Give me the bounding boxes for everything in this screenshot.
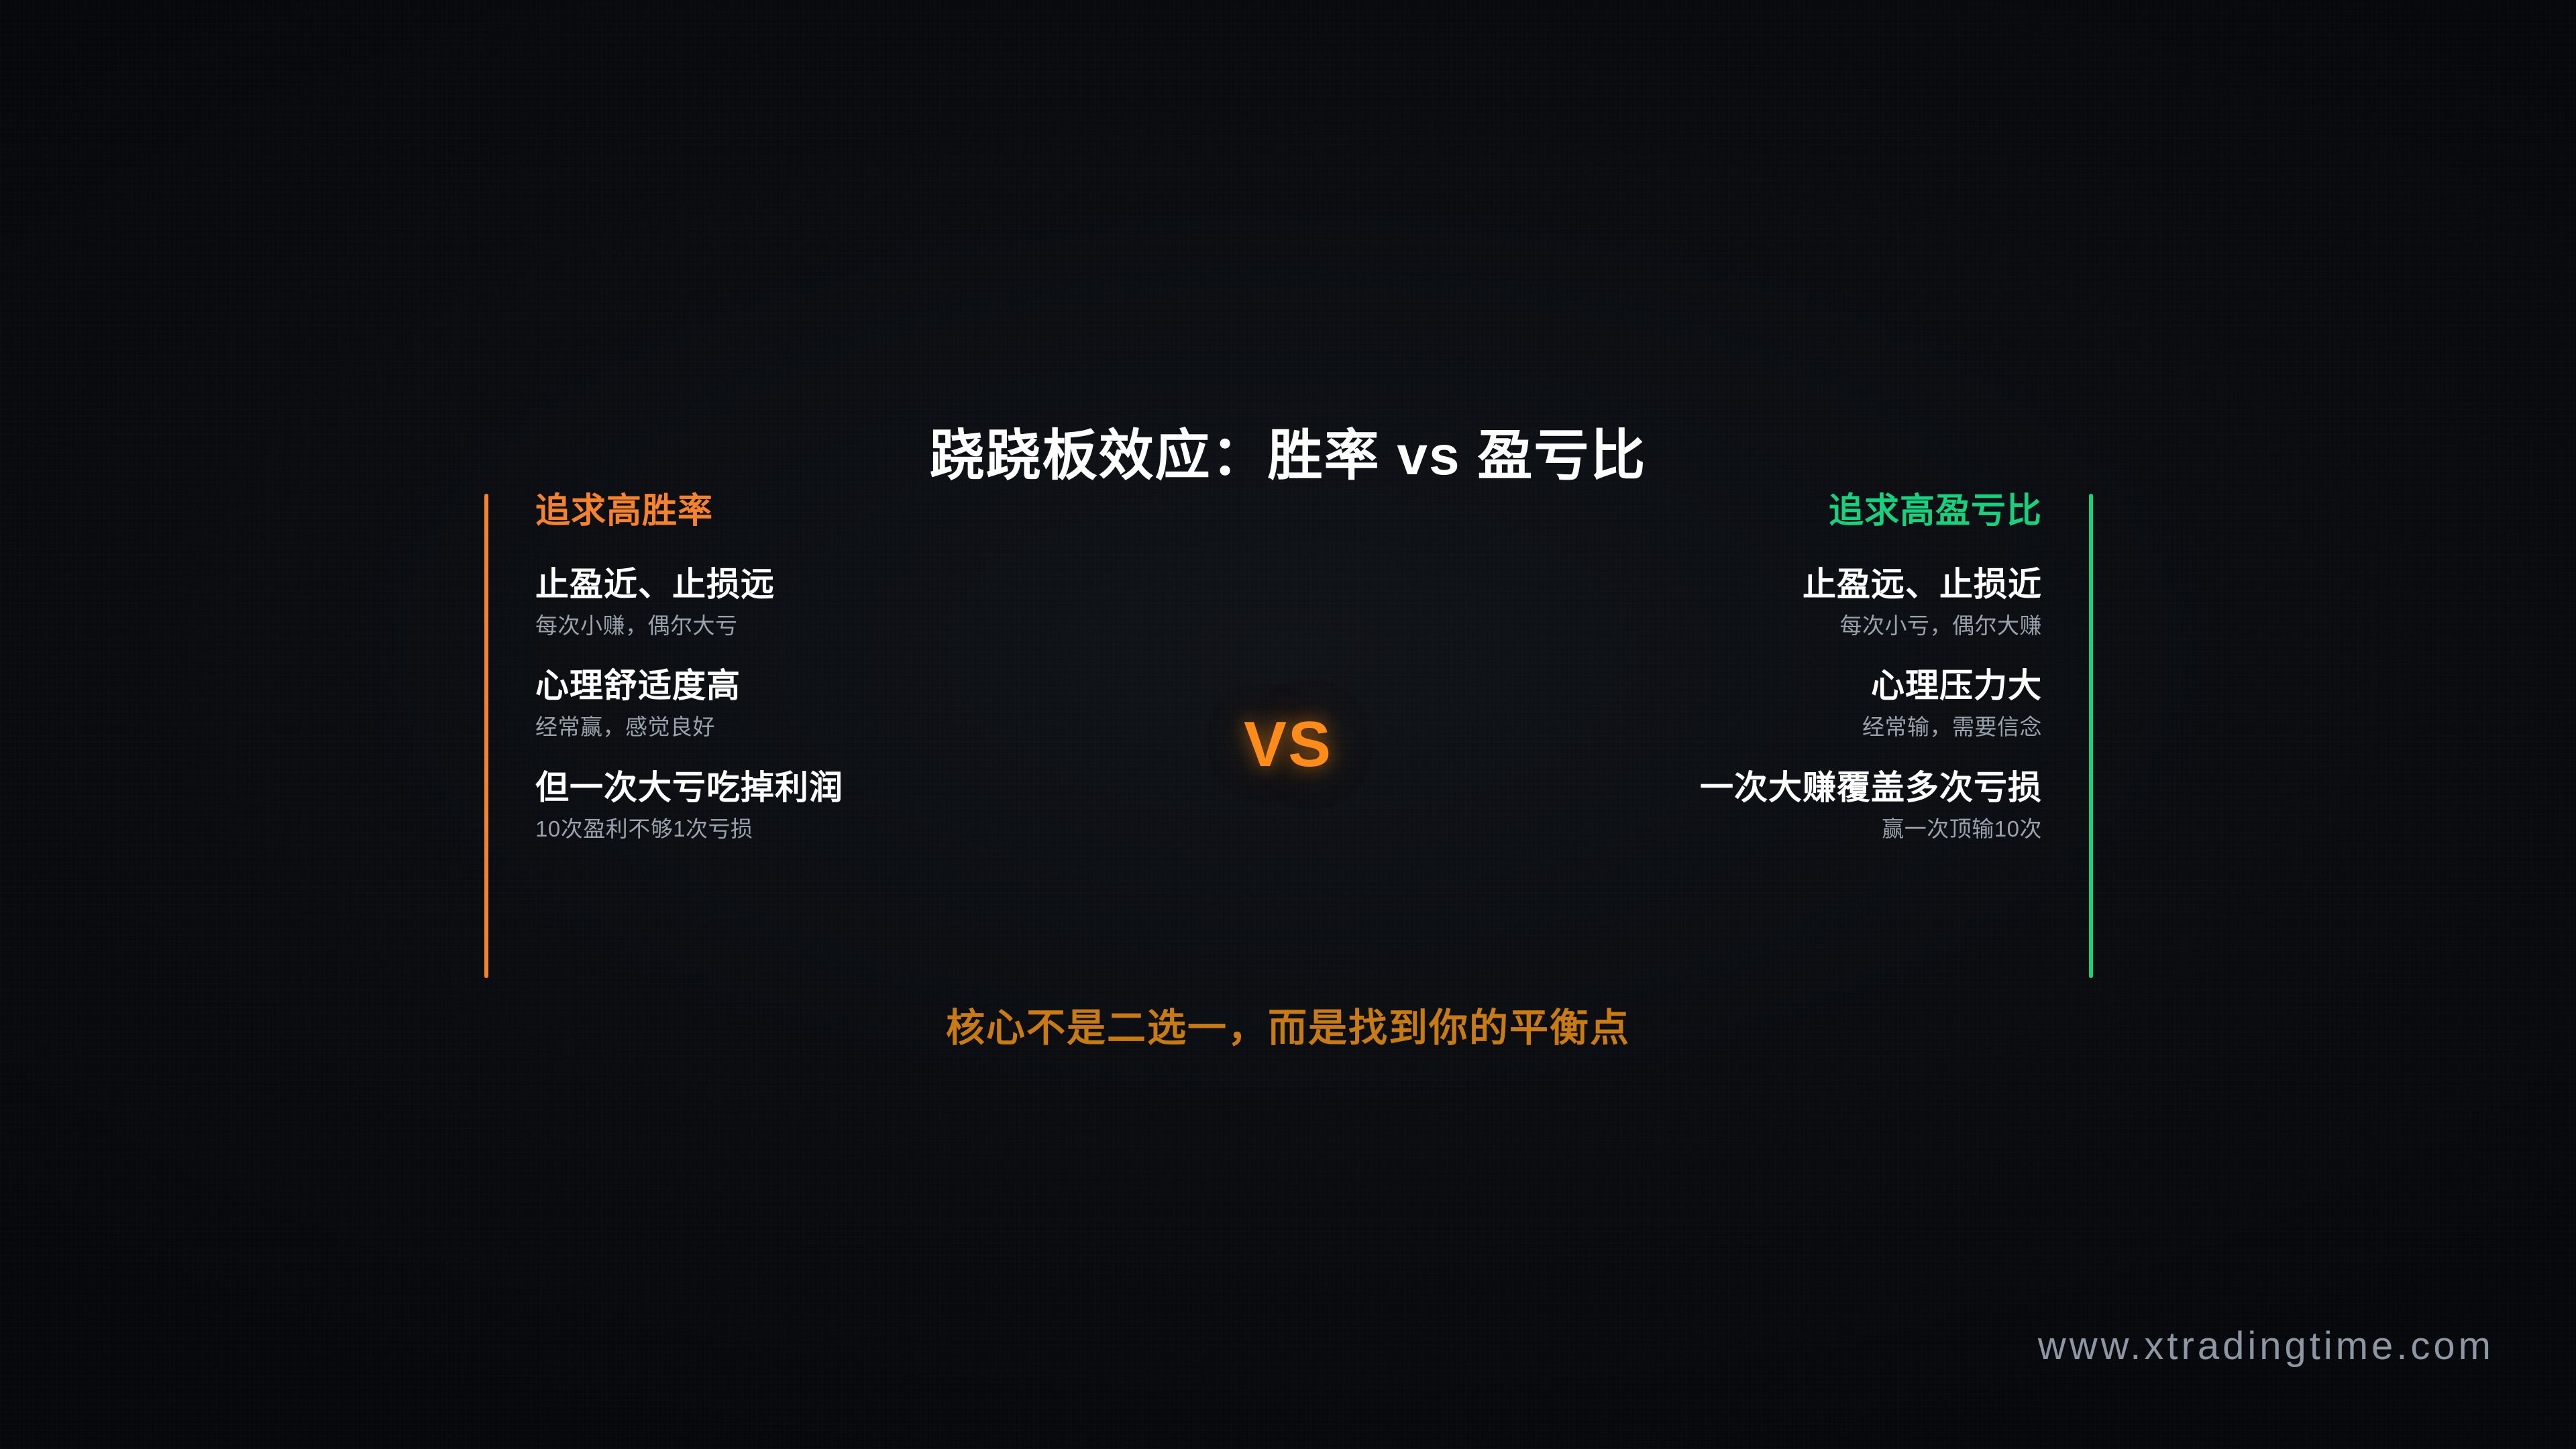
left-accent-rule (484, 494, 488, 978)
point-subtitle: 经常输，需要信念 (1371, 715, 2042, 739)
point-title: 止盈近、止损远 (535, 566, 1206, 603)
list-item: 心理压力大 经常输，需要信念 (1371, 667, 2042, 739)
column-high-win-rate: 追求高胜率 止盈近、止损远 每次小赚，偶尔大亏 心理舒适度高 经常赢，感觉良好 … (535, 494, 1206, 841)
point-title: 但一次大亏吃掉利润 (535, 769, 1206, 806)
point-title: 心理压力大 (1371, 667, 2042, 704)
slide-canvas: 跷跷板效应：胜率 vs 盈亏比 追求高胜率 止盈近、止损远 每次小赚，偶尔大亏 … (0, 0, 2576, 1449)
point-subtitle: 每次小赚，偶尔大亏 (535, 614, 1206, 638)
point-subtitle: 每次小亏，偶尔大赚 (1371, 614, 2042, 638)
point-subtitle: 10次盈利不够1次亏损 (535, 817, 1206, 841)
right-column-heading: 追求高盈亏比 (1371, 494, 2042, 529)
page-title: 跷跷板效应：胜率 vs 盈亏比 (0, 426, 2576, 486)
list-item: 心理舒适度高 经常赢，感觉良好 (535, 667, 1206, 739)
list-item: 止盈远、止损近 每次小亏，偶尔大赚 (1371, 566, 2042, 638)
comparison-panel: 追求高胜率 止盈近、止损远 每次小赚，偶尔大亏 心理舒适度高 经常赢，感觉良好 … (484, 494, 2093, 978)
right-accent-rule (2089, 494, 2093, 978)
point-title: 心理舒适度高 (535, 667, 1206, 704)
point-title: 止盈远、止损近 (1371, 566, 2042, 603)
list-item: 但一次大亏吃掉利润 10次盈利不够1次亏损 (535, 769, 1206, 841)
left-column-heading: 追求高胜率 (535, 494, 1206, 529)
site-watermark: www.xtradingtime.com (2038, 1324, 2494, 1368)
point-subtitle: 经常赢，感觉良好 (535, 715, 1206, 739)
list-item: 止盈近、止损远 每次小赚，偶尔大亏 (535, 566, 1206, 638)
column-high-reward-risk: 追求高盈亏比 止盈远、止损近 每次小亏，偶尔大赚 心理压力大 经常输，需要信念 … (1371, 494, 2042, 841)
conclusion-tagline: 核心不是二选一，而是找到你的平衡点 (0, 996, 2576, 1053)
point-subtitle: 赢一次顶输10次 (1371, 817, 2042, 841)
point-title: 一次大赚覆盖多次亏损 (1371, 769, 2042, 806)
list-item: 一次大赚覆盖多次亏损 赢一次顶输10次 (1371, 769, 2042, 841)
